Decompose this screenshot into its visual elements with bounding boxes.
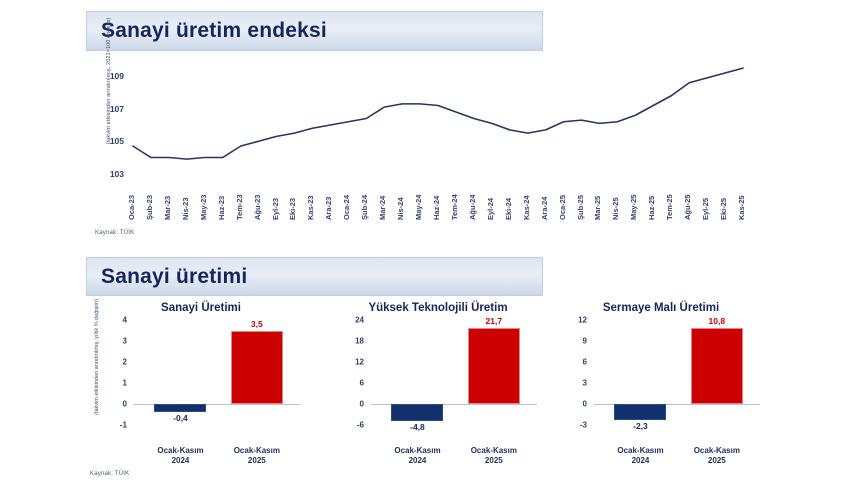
bar-chart-y-tick: -3 — [580, 421, 587, 430]
line-chart-x-ticks: Oca-23Şub-23Mar-23Nis-23May-23Haz-23Tem-… — [130, 190, 746, 220]
line-chart-x-tick: May-24 — [414, 195, 423, 220]
bar-chart-y-tick: 24 — [355, 316, 364, 325]
bar-chart-y-tick: 3 — [123, 337, 127, 346]
bar-category-label: Ocak-Kasım2025 — [471, 446, 517, 466]
bar-chart-yuksek-teknolojili-uretim: Yüksek Teknolojili Üretim -606121824-4,8… — [333, 302, 543, 462]
line-chart-x-tick: Kas-24 — [522, 195, 531, 220]
bar — [154, 404, 206, 412]
bar-value-label: 21,7 — [486, 316, 503, 326]
line-chart-x-tick: Haz-23 — [217, 196, 226, 220]
line-chart-x-tick: Oca-25 — [558, 195, 567, 220]
bar-chart-y-tick: 2 — [123, 358, 127, 367]
bar-chart-y-tick: 4 — [123, 316, 127, 325]
line-chart-x-tick: Eyl-24 — [486, 198, 495, 220]
bar-chart-y-tick: 9 — [583, 337, 587, 346]
line-chart-x-tick: Ara-23 — [324, 197, 333, 220]
line-chart-x-tick: Şub-25 — [576, 195, 585, 220]
line-chart-x-tick: Eki-25 — [719, 198, 728, 220]
bar-value-label: -2,3 — [633, 421, 648, 431]
bar-category-label-line: 2025 — [471, 456, 517, 466]
section-title-sanayi-uretimi: Sanayi üretimi — [87, 265, 247, 289]
line-chart-x-tick: Şub-23 — [145, 195, 154, 220]
bar-value-label: -4,8 — [410, 422, 425, 432]
line-chart-x-tick: Kas-25 — [737, 195, 746, 220]
bar-category-label-line: 2025 — [694, 456, 740, 466]
bar-category-label-line: 2024 — [394, 456, 440, 466]
bar-category-label-line: 2024 — [617, 456, 663, 466]
bar-category-label-line: Ocak-Kasım — [157, 446, 203, 456]
bar — [691, 328, 743, 404]
line-chart-x-tick: Ağu-23 — [253, 195, 262, 220]
line-chart-x-tick: Nis-25 — [611, 197, 620, 220]
bar — [391, 404, 443, 421]
bar-charts-row: Sanayi Üretimi (takvim etkisinden arındı… — [86, 302, 786, 462]
line-chart-plot-area — [130, 60, 746, 190]
bar — [614, 404, 666, 420]
line-chart-x-tick: Nis-24 — [396, 197, 405, 220]
bar — [231, 331, 283, 405]
bar-category-label: Ocak-Kasım2025 — [694, 446, 740, 466]
bar-chart-y-tick: 0 — [583, 400, 587, 409]
bar-category-label: Ocak-Kasım2024 — [617, 446, 663, 466]
line-chart-x-tick: Ara-24 — [540, 197, 549, 220]
bar-chart-y-tick: 12 — [355, 358, 364, 367]
line-chart-x-tick: Mar-24 — [378, 196, 387, 220]
line-chart-sanayi-uretim-endeksi: (takvim etkisinden arındırılmış, 2021=10… — [96, 60, 746, 220]
bar-chart-y-tick: 6 — [583, 358, 587, 367]
line-chart-y-tick: 107 — [110, 104, 124, 114]
line-chart-x-tick: May-25 — [629, 195, 638, 220]
bar-chart-title-sanayi-uretimi: Sanayi Üretimi — [96, 302, 306, 314]
bar-category-label: Ocak-Kasım2025 — [234, 446, 280, 466]
line-chart-x-tick: Eki-23 — [288, 198, 297, 220]
line-chart-x-tick: Oca-24 — [342, 195, 351, 220]
section-banner-sanayi-uretimi: Sanayi üretimi — [86, 257, 543, 296]
line-chart-x-tick: Ağu-25 — [683, 195, 692, 220]
bar-category-label-line: Ocak-Kasım — [471, 446, 517, 456]
line-chart-y-tick: 109 — [110, 71, 124, 81]
source-note-bar-charts: Kaynak: TÜİK — [90, 471, 129, 477]
bar-chart-y-tick: 3 — [583, 379, 587, 388]
line-chart-series — [133, 68, 743, 159]
line-chart-x-tick: Tem-23 — [235, 194, 244, 220]
bar-chart-sermaye-mali-uretimi: Sermaye Malı Üretimi -3036912-2,3Ocak-Ka… — [556, 302, 766, 462]
section-title-sanayi-uretim-endeksi: Sanayi üretim endeksi — [87, 19, 327, 43]
line-chart-x-tick: Nis-23 — [181, 197, 190, 220]
bar — [468, 328, 520, 404]
bar-chart-title-yuksek-teknolojili-uretim: Yüksek Teknolojili Üretim — [333, 302, 543, 314]
bar-chart-y-tick: 1 — [123, 379, 127, 388]
line-chart-y-tick: 105 — [110, 136, 124, 146]
line-chart-x-tick: May-23 — [199, 195, 208, 220]
bar-value-label: 3,5 — [251, 319, 263, 329]
bar-category-label-line: Ocak-Kasım — [694, 446, 740, 456]
section-banner-sanayi-uretim-endeksi: Sanayi üretim endeksi — [86, 11, 543, 51]
plot-area-sermaye-mali-uretimi: -3036912-2,3Ocak-Kasım202410,8Ocak-Kasım… — [594, 320, 760, 425]
bar-chart-y-tick: 0 — [123, 400, 127, 409]
line-chart-x-tick: Eyl-25 — [701, 198, 710, 220]
bar-chart-y-tick: 6 — [360, 379, 364, 388]
bar-value-label: -0,4 — [173, 413, 188, 423]
bar-chart-sanayi-uretimi: Sanayi Üretimi (takvim etkisinden arındı… — [96, 302, 306, 462]
line-chart-x-tick: Eyl-23 — [271, 198, 280, 220]
bar-chart-y-tick: 18 — [355, 337, 364, 346]
line-chart-x-tick: Haz-25 — [647, 196, 656, 220]
line-chart-x-tick: Oca-23 — [127, 195, 136, 220]
bar-category-label-line: Ocak-Kasım — [234, 446, 280, 456]
plot-area-sanayi-uretimi: -101234-0,4Ocak-Kasım20243,5Ocak-Kasım20… — [134, 320, 300, 425]
line-chart-x-tick: Şub-24 — [360, 195, 369, 220]
bar-category-label: Ocak-Kasım2024 — [157, 446, 203, 466]
bar-chart-y-tick: -6 — [357, 421, 364, 430]
line-chart-x-tick: Kas-23 — [306, 195, 315, 220]
line-chart-y-tick: 103 — [110, 169, 124, 179]
line-chart-x-tick: Mar-23 — [163, 196, 172, 220]
line-chart-x-tick: Tem-25 — [665, 194, 674, 220]
bar-category-label-line: Ocak-Kasım — [617, 446, 663, 456]
line-chart-x-tick: Eki-24 — [504, 198, 513, 220]
bar-chart-title-sermaye-mali-uretimi: Sermaye Malı Üretimi — [556, 302, 766, 314]
bar-chart-y-tick: -1 — [120, 421, 127, 430]
line-chart-x-tick: Tem-24 — [450, 194, 459, 220]
line-chart-x-tick: Mar-25 — [593, 196, 602, 220]
bar-chart-y-axis-title-sanayi-uretimi: (takvim etkisinden arındırılmış, yıllık … — [94, 294, 100, 420]
source-note-line-chart: Kaynak: TÜİK — [95, 230, 134, 236]
line-chart-x-tick: Ağu-24 — [468, 195, 477, 220]
line-chart-x-tick: Haz-24 — [432, 196, 441, 220]
bar-chart-y-tick: 0 — [360, 400, 364, 409]
bar-category-label-line: Ocak-Kasım — [394, 446, 440, 456]
bar-category-label-line: 2024 — [157, 456, 203, 466]
bar-category-label: Ocak-Kasım2024 — [394, 446, 440, 466]
bar-category-label-line: 2025 — [234, 456, 280, 466]
bar-value-label: 10,8 — [709, 316, 726, 326]
bar-chart-y-tick: 12 — [578, 316, 587, 325]
plot-area-yuksek-teknolojili-uretim: -606121824-4,8Ocak-Kasım202421,7Ocak-Kas… — [371, 320, 537, 425]
